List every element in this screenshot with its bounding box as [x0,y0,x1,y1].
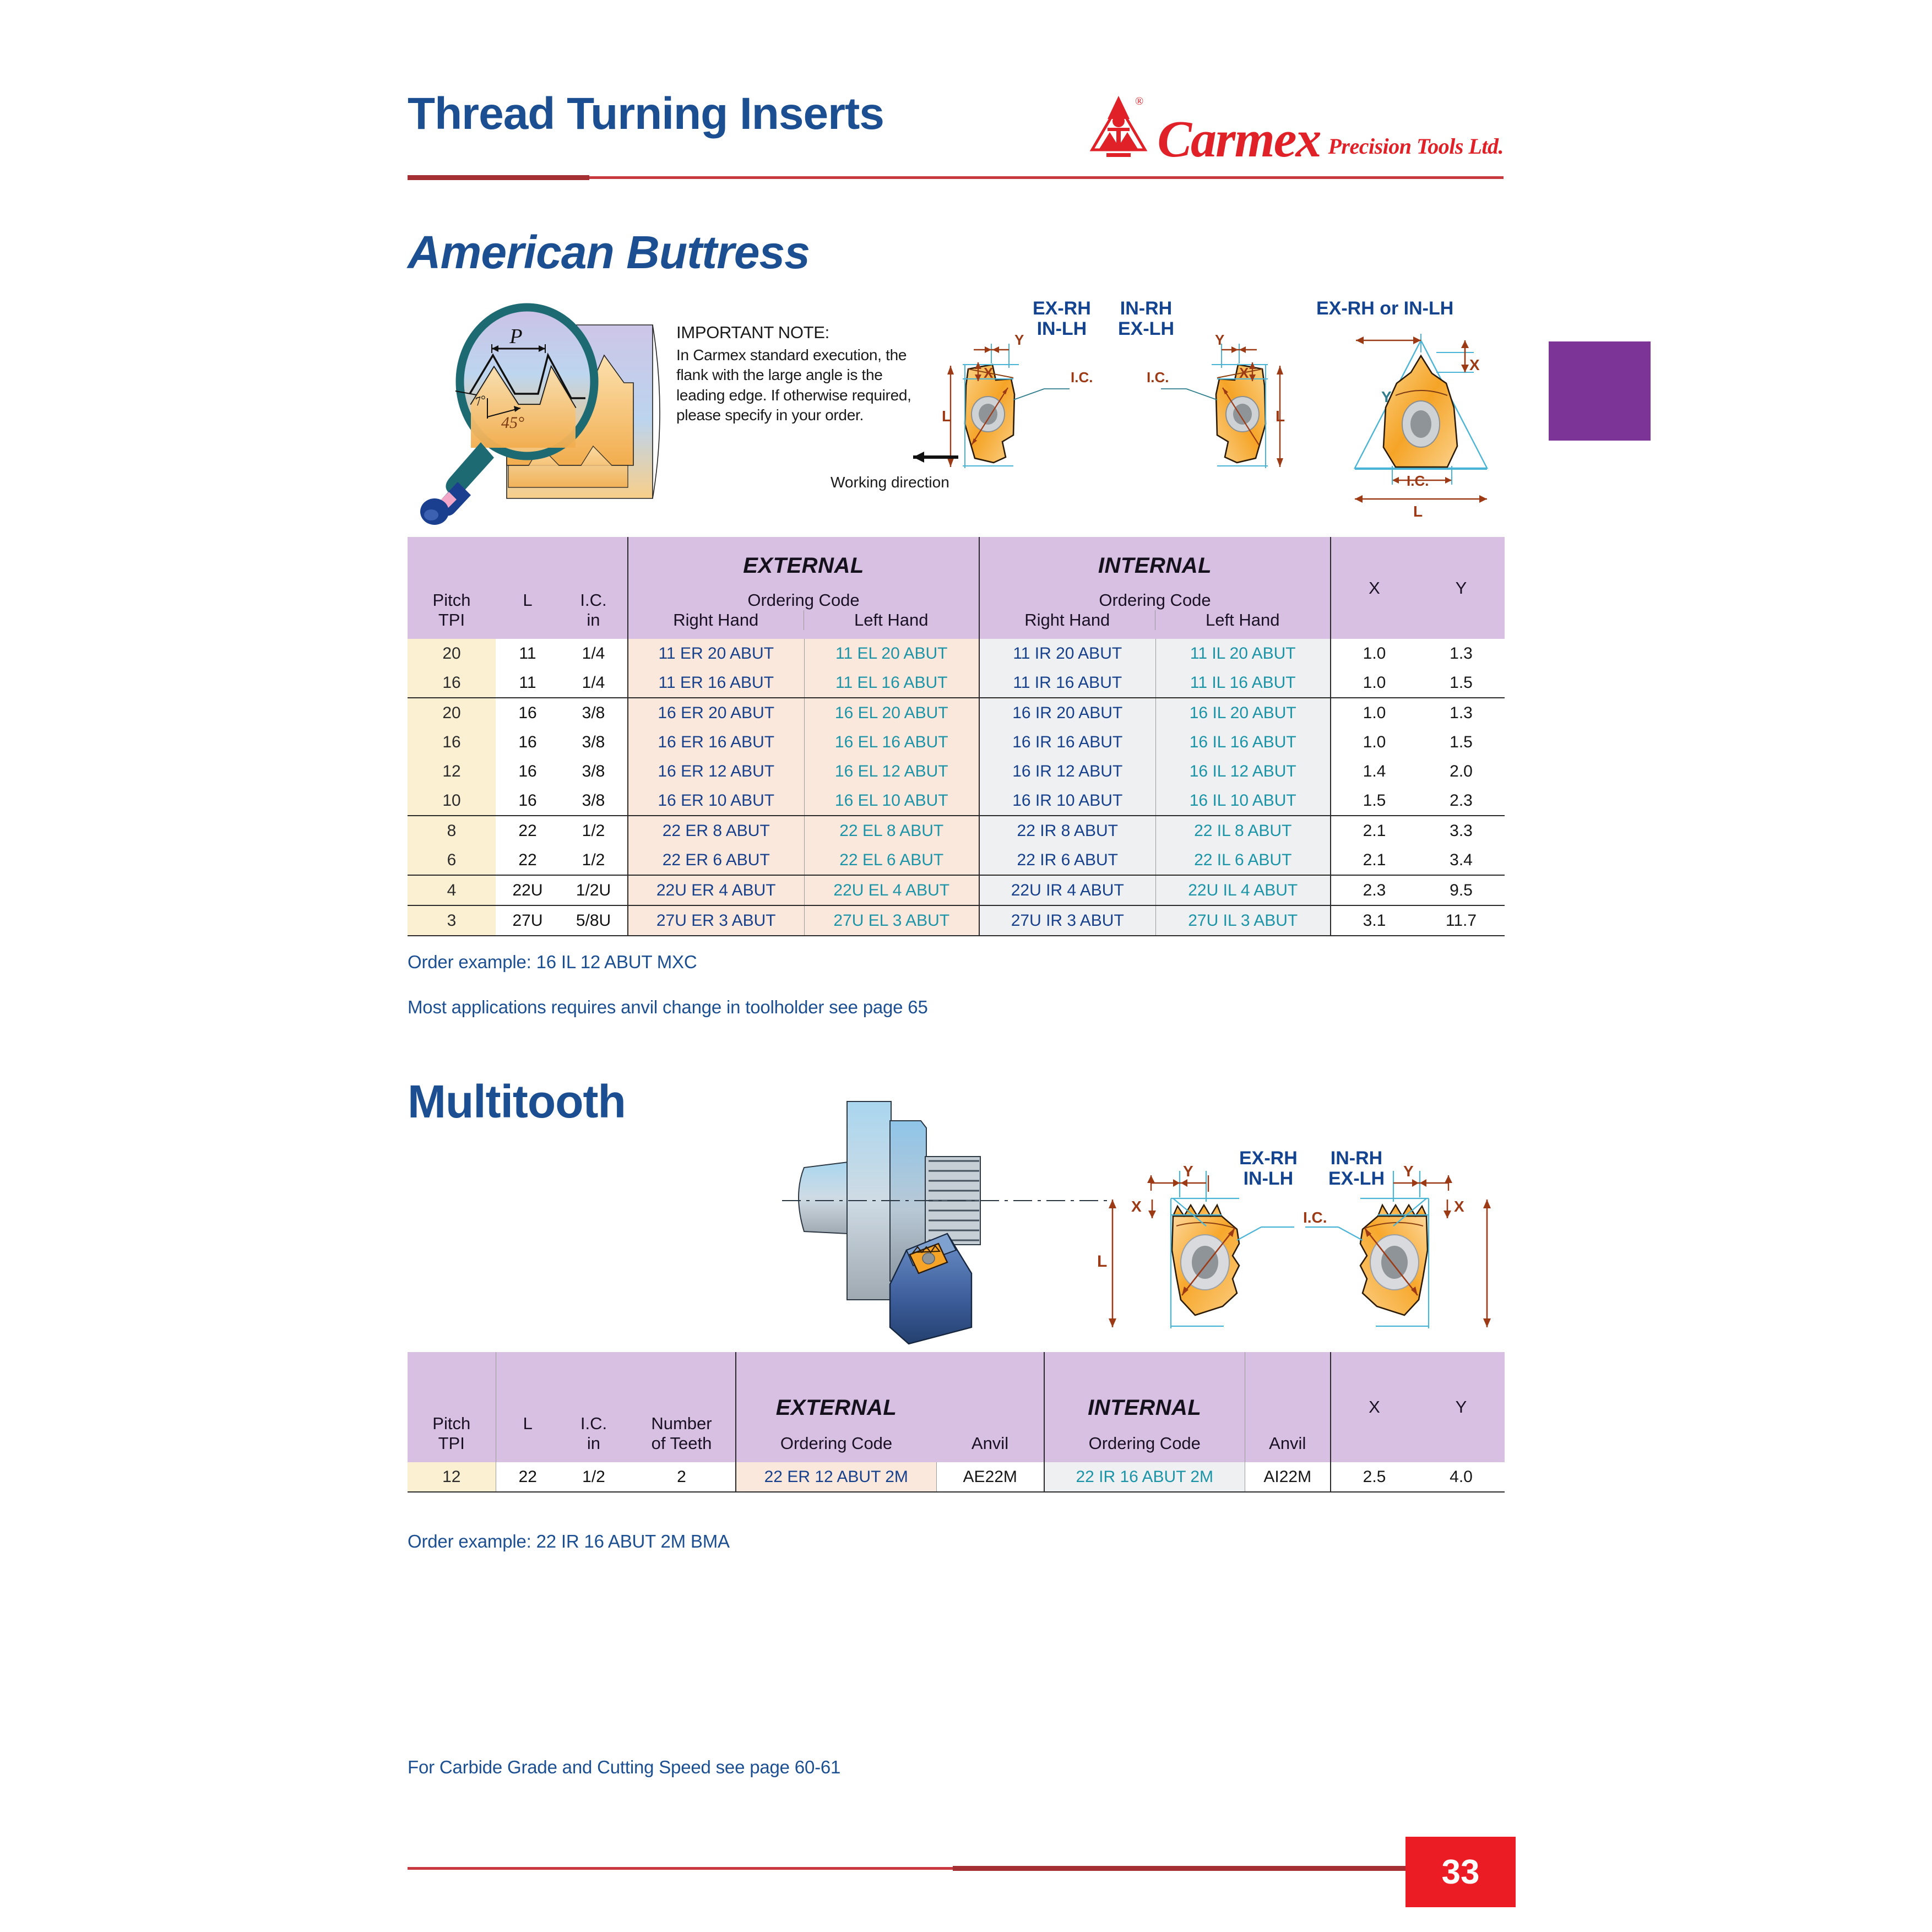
svg-text:I.C.: I.C. [1147,369,1169,386]
th-y: Y [1418,537,1505,639]
svg-text:X: X [1131,1198,1142,1215]
th-mt-external: EXTERNAL Ordering Code [736,1352,936,1462]
table-row[interactable]: 4 22U 1/2U 22U ER 4 ABUT 22U EL 4 ABUT 2… [408,875,1505,905]
svg-text:L: L [1413,503,1423,520]
th-internal: INTERNAL Ordering Code Right Hand Left H… [979,537,1331,639]
th-mt-x: X [1331,1352,1418,1462]
carmex-logo-icon: ® [1088,93,1149,163]
multitooth-spec-table: Pitch TPI L I.C. in Number of Teeth EXTE… [408,1352,1505,1493]
brand-wordmark: Carmex [1157,116,1320,163]
thread-profile-illustration: P 7° 45° [410,300,680,531]
svg-text:L: L [1097,1252,1107,1271]
multitooth-order-example: Order example: 22 IR 16 ABUT 2M BMA [408,1531,730,1552]
table-row[interactable]: 16 11 1/4 11 ER 16 ABUT 11 EL 16 ABUT 11… [408,668,1505,698]
table-row[interactable]: 20 11 1/4 11 ER 20 ABUT 11 EL 20 ABUT 11… [408,639,1505,668]
table-row[interactable]: 12 16 3/8 16 ER 12 ABUT 16 EL 12 ABUT 16… [408,757,1505,786]
table-row[interactable]: 12 22 1/2 2 22 ER 12 ABUT 2M AE22M 22 IR… [408,1462,1505,1492]
svg-text:Y: Y [1381,388,1392,405]
svg-text:X: X [1454,1198,1464,1215]
table-row[interactable]: 20 16 3/8 16 ER 20 ABUT 16 EL 20 ABUT 16… [408,698,1505,728]
page-number-badge: 33 [1405,1837,1516,1907]
multitooth-table-body: 12 22 1/2 2 22 ER 12 ABUT 2M AE22M 22 IR… [408,1462,1505,1492]
diagram-label-mt-ex-rh-in-lh: EX-RH IN-LH [1239,1148,1298,1188]
th-external: EXTERNAL Ordering Code Right Hand Left H… [628,537,979,639]
th-pitch-tpi: Pitch TPI [408,537,496,639]
page-title: Thread Turning Inserts [408,88,884,140]
svg-text:L: L [942,408,951,425]
section-title-multitooth: Multitooth [408,1075,626,1128]
svg-text:P: P [509,325,522,348]
svg-text:®: ® [1135,95,1143,107]
header-divider [408,175,1504,180]
section-color-tab [1549,341,1651,441]
buttress-order-example: Order example: 16 IL 12 ABUT MXC [408,952,697,973]
svg-text:Y: Y [1183,1163,1193,1180]
th-x: X [1331,537,1418,639]
diagram-label-ex-rh-in-lh: EX-RH IN-LH [1033,299,1091,339]
th-mt-y: Y [1418,1352,1505,1462]
th-mt-pitch-tpi: Pitch TPI [408,1352,496,1462]
svg-text:L: L [1276,408,1285,425]
th-ic: I.C. in [560,537,628,639]
carbide-grade-note: For Carbide Grade and Cutting Speed see … [408,1757,840,1778]
svg-text:Y: Y [1403,1163,1414,1180]
important-note-body: In Carmex standard execution, the flank … [676,345,935,426]
th-mt-internal-anvil: Anvil [1245,1352,1331,1462]
svg-text:I.C.: I.C. [1303,1209,1327,1226]
th-mt-teeth: Number of Teeth [628,1352,736,1462]
svg-text:X: X [1239,365,1249,381]
table-row[interactable]: 16 16 3/8 16 ER 16 ABUT 16 EL 16 ABUT 16… [408,728,1505,757]
svg-text:X: X [984,365,994,381]
page-header: Thread Turning Inserts ® Carmex Precisio… [408,83,1504,182]
svg-text:Y: Y [1215,332,1224,348]
table-row[interactable]: 3 27U 5/8U 27U ER 3 ABUT 27U EL 3 ABUT 2… [408,905,1505,936]
th-mt-internal: INTERNAL Ordering Code [1044,1352,1245,1462]
table-row[interactable]: 10 16 3/8 16 ER 10 ABUT 16 EL 10 ABUT 16… [408,786,1505,816]
carmex-logo: ® Carmex Precision Tools Ltd. [1088,93,1504,163]
svg-text:X: X [1469,356,1480,373]
diagram-label-ex-rh-or-in-lh: EX-RH or IN-LH [1316,299,1453,319]
th-mt-l: L [496,1352,560,1462]
diagram-label-in-rh-ex-lh: IN-RH EX-LH [1118,299,1174,339]
brand-tagline: Precision Tools Ltd. [1328,135,1504,158]
th-l: L [496,537,560,639]
th-mt-external-anvil: Anvil [936,1352,1044,1462]
working-direction-label: Working direction [831,474,949,491]
svg-text:45°: 45° [501,414,524,432]
svg-text:Y: Y [1014,332,1024,348]
buttress-anvil-note: Most applications requires anvil change … [408,997,928,1018]
svg-text:I.C.: I.C. [1407,473,1429,489]
diagram-label-mt-in-rh-ex-lh: IN-RH EX-LH [1328,1148,1385,1188]
multitooth-tool-illustration [782,1068,1112,1355]
th-mt-ic: I.C. in [560,1352,628,1462]
important-note-heading: IMPORTANT NOTE: [676,323,935,343]
buttress-spec-table: Pitch TPI L I.C. in EXTERNAL Ordering Co… [408,537,1505,936]
table-row[interactable]: 8 22 1/2 22 ER 8 ABUT 22 EL 8 ABUT 22 IR… [408,816,1505,845]
svg-text:I.C.: I.C. [1071,369,1093,386]
multitooth-insert-diagrams: EX-RH IN-LH IN-RH EX-LH [1074,1118,1526,1338]
section-title-american-buttress: American Buttress [408,226,810,279]
important-note: IMPORTANT NOTE: In Carmex standard execu… [676,323,935,426]
footer-divider [408,1866,1509,1871]
buttress-table-body: 20 11 1/4 11 ER 20 ABUT 11 EL 20 ABUT 11… [408,639,1505,936]
table-row[interactable]: 6 22 1/2 22 ER 6 ABUT 22 EL 6 ABUT 22 IR… [408,845,1505,875]
